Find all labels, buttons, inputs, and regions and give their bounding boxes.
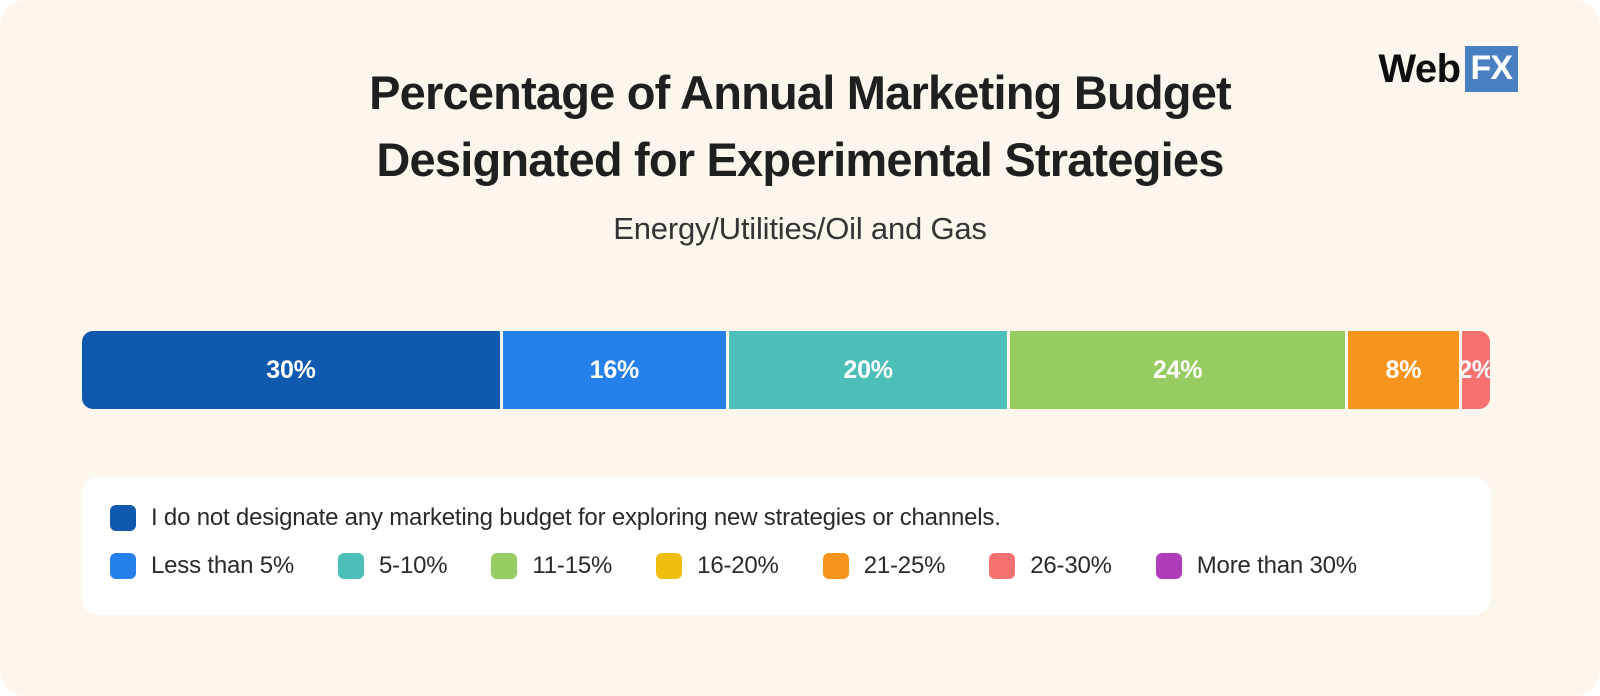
bar-segment: 20% <box>729 331 1011 409</box>
bar-segment-label: 8% <box>1386 356 1422 385</box>
bar-segment-label: 20% <box>843 356 892 385</box>
stacked-bar-chart: 30%16%20%24%8%2% <box>82 331 1490 409</box>
bar-segment-label: 2% <box>1462 356 1490 385</box>
legend-item[interactable]: 21-25% <box>823 553 946 579</box>
legend-item-label: More than 30% <box>1197 554 1357 578</box>
legend-swatch-icon <box>110 553 136 579</box>
legend-item-label: I do not designate any marketing budget … <box>151 506 1001 530</box>
bar-segment: 30% <box>82 331 503 409</box>
legend-swatch-icon <box>110 505 136 531</box>
legend-item-no-budget[interactable]: I do not designate any marketing budget … <box>110 505 1001 531</box>
bar-segment: 8% <box>1348 331 1462 409</box>
bar-segment: 24% <box>1010 331 1347 409</box>
infographic-canvas: Web FX Percentage of Annual Marketing Bu… <box>0 0 1600 696</box>
bar-segment: 2% <box>1462 331 1490 409</box>
chart-title-line-2: Designated for Experimental Strategies <box>170 127 1430 194</box>
legend-swatch-icon <box>1156 553 1182 579</box>
bar-segment-label: 24% <box>1153 356 1202 385</box>
legend-row-primary: I do not designate any marketing budget … <box>82 477 1490 531</box>
legend-swatch-icon <box>656 553 682 579</box>
legend-item-label: 11-15% <box>532 554 612 578</box>
legend-swatch-icon <box>823 553 849 579</box>
legend-item-label: Less than 5% <box>151 554 294 578</box>
legend-item[interactable]: More than 30% <box>1156 553 1357 579</box>
legend-card: I do not designate any marketing budget … <box>82 477 1490 615</box>
legend-item-label: 26-30% <box>1030 554 1112 578</box>
legend-item[interactable]: Less than 5% <box>110 553 294 579</box>
legend-row-secondary: Less than 5%5-10%11-15%16-20%21-25%26-30… <box>82 531 1490 579</box>
legend-item-label: 5-10% <box>379 554 447 578</box>
chart-subtitle: Energy/Utilities/Oil and Gas <box>0 211 1600 247</box>
bar-segment-label: 16% <box>590 356 639 385</box>
legend-swatch-icon <box>338 553 364 579</box>
legend-swatch-icon <box>989 553 1015 579</box>
legend-item[interactable]: 26-30% <box>989 553 1112 579</box>
chart-title: Percentage of Annual Marketing Budget De… <box>0 60 1600 193</box>
legend-item-label: 21-25% <box>864 554 946 578</box>
legend-item[interactable]: 11-15% <box>491 553 612 579</box>
legend-item-label: 16-20% <box>697 554 779 578</box>
legend-item[interactable]: 16-20% <box>656 553 779 579</box>
bar-segment: 16% <box>503 331 729 409</box>
chart-title-line-1: Percentage of Annual Marketing Budget <box>170 60 1430 127</box>
legend-item[interactable]: 5-10% <box>338 553 447 579</box>
bar-segment-label: 30% <box>266 356 315 385</box>
legend-swatch-icon <box>491 553 517 579</box>
